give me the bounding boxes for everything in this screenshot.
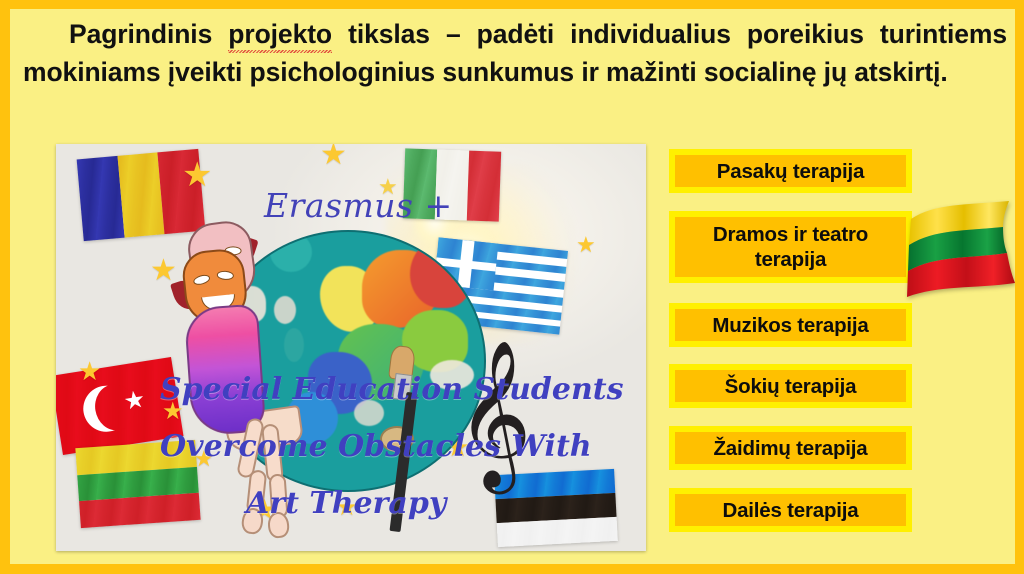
erasmus-plus-text: Erasmus + [264, 186, 453, 225]
lithuania-waving-flag-icon [905, 201, 1015, 297]
poster-headline-line-3: Art Therapy [246, 486, 446, 521]
star-icon: ★ [320, 144, 347, 170]
tag-pasaku-terapija[interactable]: Pasakų terapija [669, 149, 912, 193]
tag-sokiu-terapija[interactable]: Šokių terapija [669, 364, 912, 408]
slide-frame: Pagrindinis projekto tikslas – padėti in… [0, 0, 1024, 574]
slide-canvas: Pagrindinis projekto tikslas – padėti in… [10, 9, 1015, 564]
star-icon: ★ [150, 256, 177, 286]
tag-muzikos-terapija[interactable]: Muzikos terapija [669, 303, 912, 347]
tag-zaidimu-terapija[interactable]: Žaidimų terapija [669, 426, 912, 470]
poster-headline-line-2: Overcome Obstacles With [160, 429, 592, 464]
star-icon: ★ [182, 158, 212, 192]
title-part-1: Pagrindinis [69, 19, 228, 49]
star-icon: ★ [78, 358, 101, 384]
tag-dailes-terapija[interactable]: Dailės terapija [669, 488, 912, 532]
star-icon: ★ [576, 234, 596, 256]
misspelled-word-projekto: projekto [228, 16, 332, 54]
tag-dramos-ir-teatro-terapija[interactable]: Dramos ir teatro terapija [669, 211, 912, 283]
rainbow-body [184, 304, 267, 437]
project-poster-photo: ★ [56, 144, 646, 551]
page-title: Pagrindinis projekto tikslas – padėti in… [23, 16, 1007, 91]
poster-headline-line-1: Special Education Students [160, 372, 624, 407]
